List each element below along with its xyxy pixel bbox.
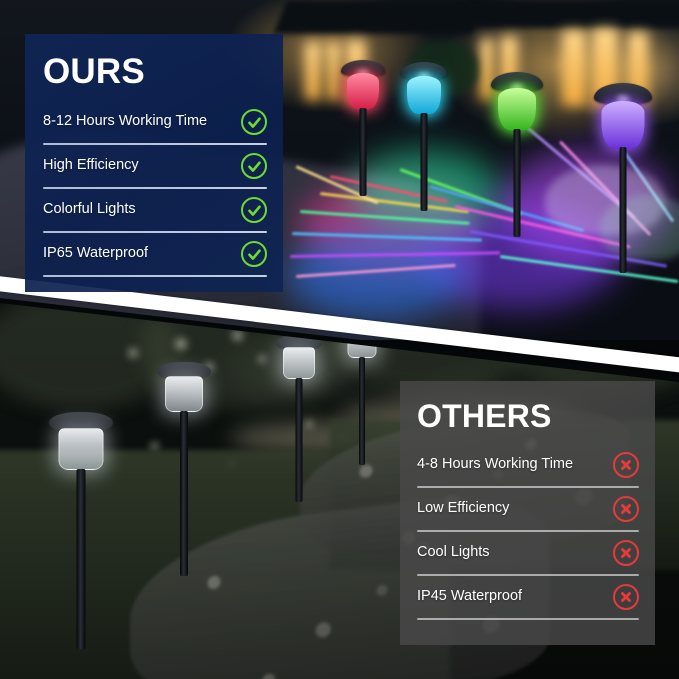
feature-label: IP45 Waterproof [417,588,522,605]
row-separator [43,231,267,233]
lamp-dome [165,376,203,412]
table-row: High Efficiency [43,145,267,187]
others-panel: OTHERS 4-8 Hours Working Time Low Effici… [400,381,655,645]
roof-silhouette-left [273,0,487,34]
solar-lamp-white-third [275,335,323,505]
table-row: 4-8 Hours Working Time [417,444,639,486]
cross-icon [613,452,639,478]
lamp-pole [180,411,188,576]
others-feature-item: Cool Lights [417,532,639,576]
others-title: OTHERS [417,400,655,432]
ours-feature-item: High Efficiency [43,145,267,189]
lamp-dome [498,88,536,130]
feature-label: High Efficiency [43,157,139,174]
table-row: Colorful Lights [43,189,267,231]
bokeh [232,330,243,341]
feature-label: 8-12 Hours Working Time [43,113,207,130]
check-icon [241,197,267,223]
row-separator [43,275,267,277]
lamp-pole [296,378,303,502]
comparison-image: OURS 8-12 Hours Working Time High Effici… [0,0,679,679]
cross-icon [613,584,639,610]
row-separator [417,618,639,620]
others-feature-list: 4-8 Hours Working Time Low Efficiency [400,444,655,620]
table-row: Cool Lights [417,532,639,574]
feature-label: 4-8 Hours Working Time [417,456,573,473]
check-icon [241,241,267,267]
check-icon [241,153,267,179]
bokeh [258,355,266,363]
others-feature-item: IP45 Waterproof [417,576,639,620]
row-separator [417,530,639,532]
table-row: 8-12 Hours Working Time [43,101,267,143]
table-row: IP45 Waterproof [417,576,639,618]
others-feature-item: 4-8 Hours Working Time [417,444,639,488]
solar-lamp-white-front [48,412,114,652]
lamp-dome [407,76,441,114]
table-row: Low Efficiency [417,488,639,530]
house-window [305,42,321,100]
ours-panel: OURS 8-12 Hours Working Time High Effici… [25,34,283,292]
lamp-pole [421,113,428,211]
solar-lamp-red [340,60,386,195]
lamp-pole [514,129,521,237]
ours-feature-list: 8-12 Hours Working Time High Efficiency [25,101,283,277]
ours-feature-item: IP65 Waterproof [43,233,267,277]
solar-lamp-white-second [156,362,212,582]
lamp-pole [360,108,367,196]
bokeh [175,338,187,350]
feature-label: Cool Lights [417,544,490,561]
house-window [562,30,586,106]
feature-label: Colorful Lights [43,201,136,218]
lamp-dome [602,101,645,149]
ours-title: OURS [43,54,283,89]
feature-label: Low Efficiency [417,500,509,517]
lamp-pole [620,147,627,273]
row-separator [43,187,267,189]
solar-lamp-purple [593,83,653,273]
solar-lamp-green [490,72,544,237]
ours-feature-item: 8-12 Hours Working Time [43,101,267,145]
row-separator [43,143,267,145]
cross-icon [613,496,639,522]
lamp-dome [59,428,104,470]
lamp-dome [347,73,379,109]
feature-label: IP65 Waterproof [43,245,148,262]
roof-silhouette-right [465,0,679,28]
solar-lamp-cyan [400,62,448,212]
row-separator [417,574,639,576]
table-row: IP65 Waterproof [43,233,267,275]
others-feature-item: Low Efficiency [417,488,639,532]
lamp-pole [77,469,86,649]
bokeh [128,348,138,358]
lamp-pole [359,357,365,465]
row-separator [417,486,639,488]
lamp-dome [283,347,315,379]
check-icon [241,109,267,135]
house-window [327,42,340,100]
cross-icon [613,540,639,566]
ours-feature-item: Colorful Lights [43,189,267,233]
